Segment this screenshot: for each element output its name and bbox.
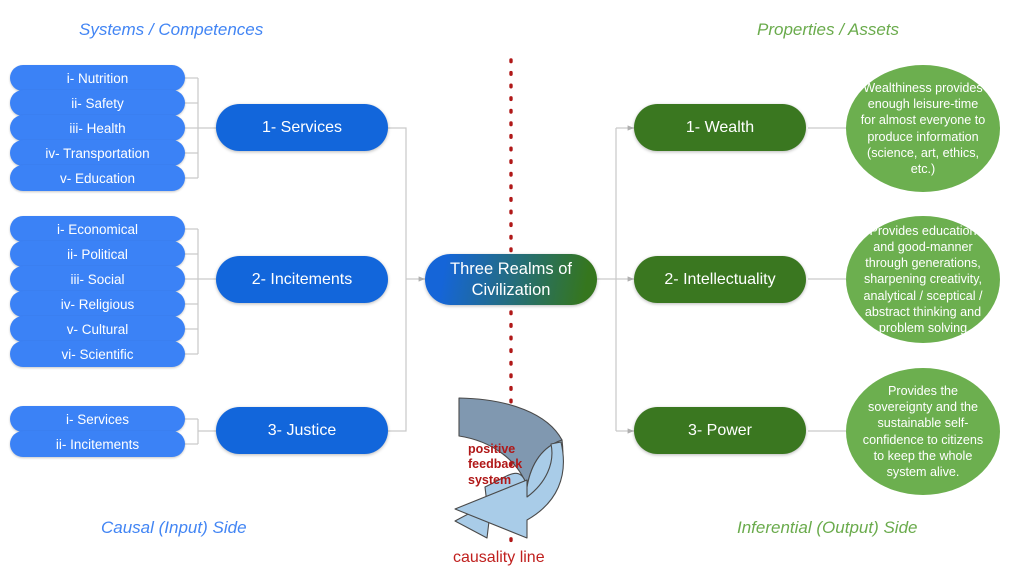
input-pill-health[interactable]: iii- Health <box>10 115 185 141</box>
input-pill-religious[interactable]: iv- Religious <box>10 291 185 317</box>
caption-properties-assets: Properties / Assets <box>757 20 899 40</box>
input-pill-cultural[interactable]: v- Cultural <box>10 316 185 342</box>
output-description-power: Provides the sovereignty and the sustain… <box>846 368 1000 495</box>
input-pill-economical[interactable]: i- Economical <box>10 216 185 242</box>
input-pill-transportation[interactable]: iv- Transportation <box>10 140 185 166</box>
node-services[interactable]: 1- Services <box>216 104 388 151</box>
output-description-wealth: Wealthiness provides enough leisure-time… <box>846 65 1000 192</box>
node-justice[interactable]: 3- Justice <box>216 407 388 454</box>
caption-causal-input-side: Causal (Input) Side <box>101 518 247 538</box>
causality-line-label: causality line <box>453 549 545 567</box>
node-wealth[interactable]: 1- Wealth <box>634 104 806 151</box>
input-pill-social[interactable]: iii- Social <box>10 266 185 292</box>
node-intellectuality[interactable]: 2- Intellectuality <box>634 256 806 303</box>
output-description-intellectuality: Provides education and good-manner throu… <box>846 216 1000 343</box>
diagram-canvas: Systems / Competences Properties / Asset… <box>0 0 1024 579</box>
caption-inferential-output-side: Inferential (Output) Side <box>737 518 917 538</box>
node-three-realms-label: Three Realms of Civilization <box>450 259 572 300</box>
input-pill-incitements[interactable]: ii- Incitements <box>10 431 185 457</box>
input-pill-education[interactable]: v- Education <box>10 165 185 191</box>
input-pill-safety[interactable]: ii- Safety <box>10 90 185 116</box>
input-pill-services[interactable]: i- Services <box>10 406 185 432</box>
input-pill-political[interactable]: ii- Political <box>10 241 185 267</box>
node-three-realms-line2: Civilization <box>472 281 551 299</box>
positive-feedback-system-label: positive feedback system <box>468 442 522 488</box>
node-incitements[interactable]: 2- Incitements <box>216 256 388 303</box>
caption-systems-competences: Systems / Competences <box>79 20 263 40</box>
node-three-realms-of-civilization[interactable]: Three Realms of Civilization <box>425 254 597 305</box>
node-three-realms-line1: Three Realms of <box>450 260 572 278</box>
input-pill-nutrition[interactable]: i- Nutrition <box>10 65 185 91</box>
input-pill-scientific[interactable]: vi- Scientific <box>10 341 185 367</box>
node-power[interactable]: 3- Power <box>634 407 806 454</box>
